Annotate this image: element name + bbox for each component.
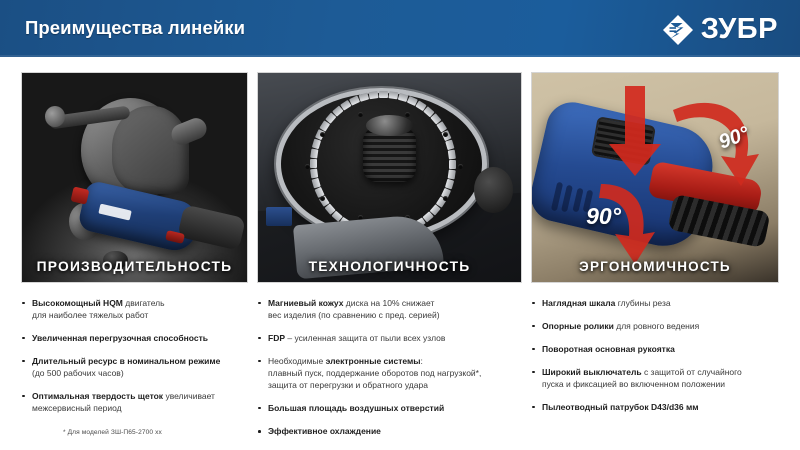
- bullet-text: диска на 10% снижает: [343, 298, 434, 308]
- bullet-item: Поворотная основная рукоятка: [531, 343, 779, 355]
- bullet-text: Необходимые: [268, 356, 326, 366]
- bullet-item: Пылеотводный патрубок D43/d36 мм: [531, 401, 779, 413]
- bullet-item: Увеличенная перегрузочная способность: [21, 332, 248, 344]
- slide-header: Преимущества линейки ЗУБР: [0, 0, 800, 57]
- bullet-text: защита от перегрузки и обратного удара: [268, 380, 428, 390]
- bullet-list-performance: Высокомощный HQM двигательдля наиболее т…: [21, 297, 248, 414]
- photo-card-ergonomics: 90° 90° ЭРГОНОМИЧНОСТЬ: [531, 72, 779, 283]
- bullet-text: – усиленная защита от пыли всех узлов: [285, 333, 445, 343]
- page-title: Преимущества линейки: [25, 17, 245, 39]
- bullet-item: Оптимальная твердость щеток увеличиваетм…: [21, 390, 248, 414]
- bullet-text: вес изделия (по сравнению с пред. серией…: [268, 310, 440, 320]
- disc-bolt-hole: [305, 164, 310, 169]
- photo-technology-artwork: [258, 73, 521, 282]
- bullet-text: :: [421, 356, 423, 366]
- bullet-item: Магниевый кожух диска на 10% снижаетвес …: [257, 297, 522, 321]
- down-arrow-icon: [601, 86, 671, 178]
- brand-name: ЗУБР: [701, 15, 778, 44]
- photo-card-performance: ПРОИЗВОДИТЕЛЬНОСТЬ: [21, 72, 248, 283]
- bullet-item: Большая площадь воздушных отверстий: [257, 402, 522, 414]
- advantage-column-performance: ПРОИЗВОДИТЕЛЬНОСТЬ Высокомощный HQM двиг…: [21, 72, 248, 425]
- bullet-text: с защитой от случайного: [642, 367, 742, 377]
- bullet-item: FDP – усиленная защита от пыли всех узло…: [257, 332, 522, 344]
- bullet-text-emphasis: Магниевый кожух: [268, 298, 343, 308]
- photo-ergonomics-artwork: 90° 90°: [532, 73, 778, 282]
- bullet-item: Опорные ролики для ровного ведения: [531, 320, 779, 332]
- disc-bolt-hole: [443, 196, 448, 201]
- bullet-item: Длительный ресурс в номинальном режиме(д…: [21, 355, 248, 379]
- photo-card-technology: ТЕХНОЛОГИЧНОСТЬ: [257, 72, 522, 283]
- bullet-text-emphasis: Поворотная основная рукоятка: [542, 344, 675, 354]
- bullet-text-emphasis: Оптимальная твердость щеток: [32, 391, 163, 401]
- bullet-text: двигатель: [123, 298, 165, 308]
- zubr-diamond-arrow-icon: [662, 14, 694, 46]
- bullet-item: Эффективное охлаждение: [257, 425, 522, 437]
- slide-root: Преимущества линейки ЗУБР: [0, 0, 800, 450]
- bullet-text-emphasis: FDP: [268, 333, 285, 343]
- angle-label-lower: 90°: [586, 203, 621, 230]
- bullet-list-ergonomics: Наглядная шкала глубины резаОпорные роли…: [531, 297, 779, 413]
- footnote: * Для моделей ЗШ-П65-2700 хх: [63, 429, 162, 436]
- advantage-column-ergonomics: 90° 90° ЭРГОНОМИЧНОСТЬ Наглядная шкала г…: [531, 72, 779, 424]
- bullet-item: Необходимые электронные системы:плавный …: [257, 355, 522, 391]
- disc-bolt-hole: [458, 164, 463, 169]
- bullet-text-emphasis: Длительный ресурс в номинальном режиме: [32, 356, 220, 366]
- photo-caption-ergonomics: ЭРГОНОМИЧНОСТЬ: [532, 259, 778, 274]
- photo-caption-performance: ПРОИЗВОДИТЕЛЬНОСТЬ: [22, 259, 247, 274]
- bullet-text-emphasis: Увеличенная перегрузочная способность: [32, 333, 208, 343]
- bullet-text: плавный пуск, поддержание оборотов под н…: [268, 368, 481, 378]
- bullet-text: межсервисный период: [32, 403, 122, 413]
- disc-bolt-hole: [405, 112, 410, 117]
- bullet-item: Широкий выключатель с защитой от случайн…: [531, 366, 779, 390]
- photo-performance-artwork: [22, 73, 247, 282]
- bullet-text: для наиболее тяжелых работ: [32, 310, 148, 320]
- bullet-text: для ровного ведения: [614, 321, 699, 331]
- advantages-columns: ПРОИЗВОДИТЕЛЬНОСТЬ Высокомощный HQM двиг…: [0, 57, 800, 450]
- bullet-text-emphasis: Большая площадь воздушных отверстий: [268, 403, 444, 413]
- bullet-list-technology: Магниевый кожух диска на 10% снижаетвес …: [257, 297, 522, 438]
- brand-logo: ЗУБР: [662, 13, 778, 46]
- bullet-text: увеличивает: [163, 391, 215, 401]
- bullet-text-emphasis: Опорные ролики: [542, 321, 614, 331]
- bullet-text: пуска и фиксацией во включенном положени…: [542, 379, 725, 389]
- bullet-text: глубины реза: [615, 298, 670, 308]
- bullet-text-emphasis: Наглядная шкала: [542, 298, 615, 308]
- photo-caption-technology: ТЕХНОЛОГИЧНОСТЬ: [258, 259, 521, 274]
- bullet-text-emphasis: электронные системы: [326, 356, 421, 366]
- bullet-text-emphasis: Широкий выключатель: [542, 367, 642, 377]
- bullet-item: Высокомощный HQM двигательдля наиболее т…: [21, 297, 248, 321]
- bullet-text-emphasis: Эффективное охлаждение: [268, 426, 381, 436]
- bullet-text: (до 500 рабочих часов): [32, 368, 124, 378]
- disc-bolt-hole: [320, 196, 325, 201]
- advantage-column-technology: ТЕХНОЛОГИЧНОСТЬ Магниевый кожух диска на…: [257, 72, 522, 449]
- bullet-text-emphasis: Высокомощный HQM: [32, 298, 123, 308]
- bullet-text-emphasis: Пылеотводный патрубок D43/d36 мм: [542, 402, 699, 412]
- bullet-item: Наглядная шкала глубины реза: [531, 297, 779, 309]
